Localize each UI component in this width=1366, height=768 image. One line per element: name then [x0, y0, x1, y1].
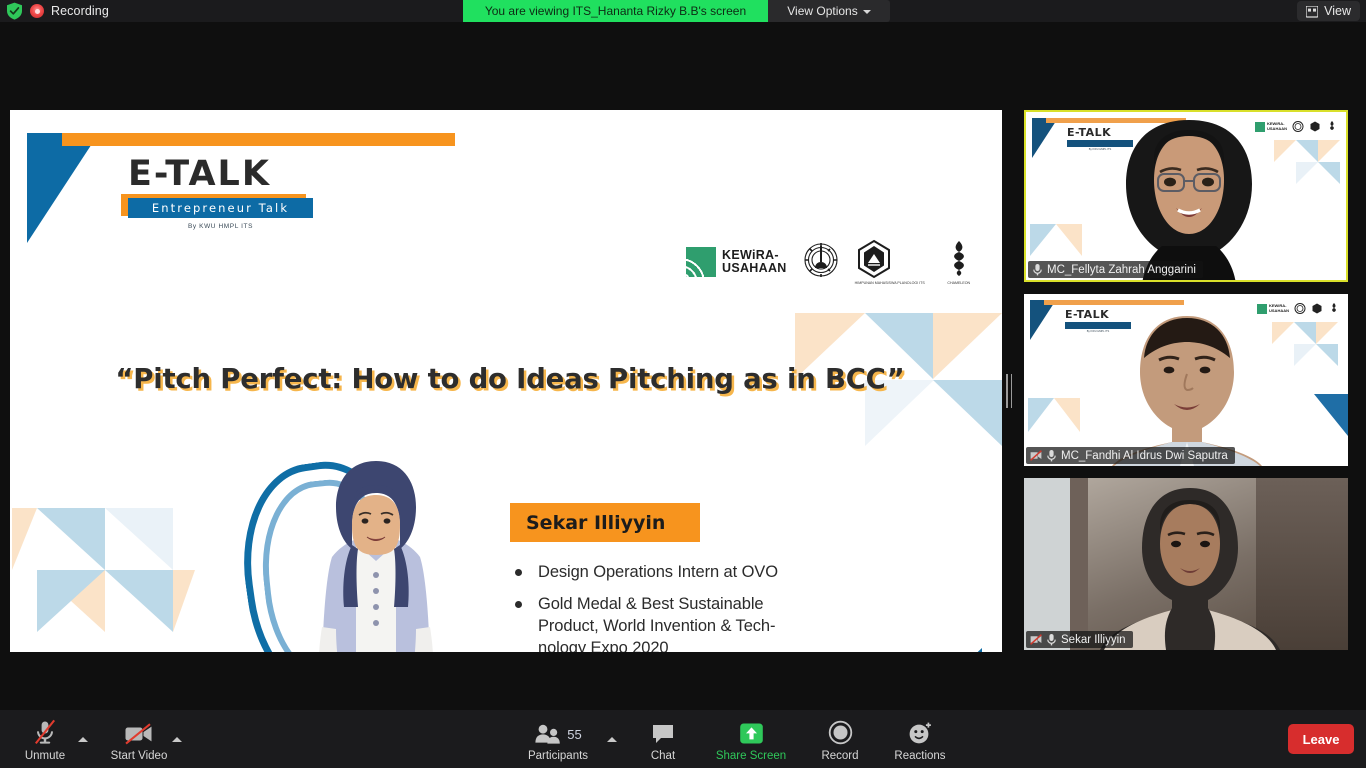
audio-options-caret[interactable]	[78, 737, 88, 742]
record-circle-icon	[828, 719, 853, 745]
video-options-caret[interactable]	[172, 737, 182, 742]
bullet-text: Design Operations Intern at OVO	[538, 562, 778, 584]
chameleon-logo-caption: CHAMELEON	[940, 281, 978, 285]
microphone-muted-icon	[1032, 263, 1043, 276]
participant-video-person	[1084, 308, 1290, 466]
chameleon-mark-icon	[940, 238, 978, 280]
chameleon-mark-icon	[1326, 120, 1338, 133]
deco-triangle	[37, 508, 105, 570]
hmpl-seal-icon	[855, 238, 893, 280]
share-screen-button[interactable]: Share Screen	[708, 719, 794, 762]
microphone-muted-icon	[1046, 449, 1057, 462]
start-video-button[interactable]: Start Video	[96, 719, 182, 762]
chevron-down-icon	[863, 10, 871, 14]
share-screen-label: Share Screen	[716, 750, 786, 762]
reactions-button[interactable]: Reactions	[877, 719, 963, 762]
its-logo	[802, 240, 840, 283]
participant-name: MC_Fellyta Zahrah Anggarini	[1047, 264, 1196, 276]
participant-name-badge: MC_Fellyta Zahrah Anggarini	[1028, 261, 1203, 278]
recording-label: Recording	[51, 4, 109, 18]
start-video-label: Start Video	[111, 750, 168, 762]
deco-triangle	[1294, 344, 1316, 366]
chameleon-logo: CHAMELEON	[940, 238, 978, 285]
video-tile-2[interactable]: Sekar Illiyyin	[1024, 478, 1348, 650]
deco-triangle	[1296, 140, 1318, 162]
speaker-photo	[292, 457, 460, 652]
etalk-title: E-TALK	[128, 157, 428, 192]
hmpl-seal-icon	[1311, 302, 1323, 315]
deco-orange-bar	[62, 133, 455, 146]
bullet-text: Gold Medal & Best Sustainable Product, W…	[538, 594, 775, 652]
participant-name-badge: Sekar Illiyyin	[1026, 631, 1133, 648]
grid-view-icon	[1306, 5, 1318, 17]
deco-triangle	[1054, 398, 1080, 432]
view-options-button[interactable]: View Options	[768, 0, 890, 22]
video-feed	[1024, 478, 1348, 650]
kewirausahaan-logo: KEWiRA-USAHAAN	[686, 247, 787, 277]
speaker-name: Sekar Illiyyin	[526, 512, 665, 534]
list-item: Gold Medal & Best Sustainable Product, W…	[510, 594, 840, 652]
viewing-screen-banner: You are viewing ITS_Hananta Rizky B.B's …	[463, 0, 768, 22]
unmute-label: Unmute	[25, 750, 65, 762]
share-screen-icon	[739, 719, 764, 745]
kewirausahaan-mark-icon	[686, 247, 716, 277]
shared-screen-area[interactable]: E-TALK Entrepreneur Talk By KWU HMPL ITS…	[10, 110, 1002, 652]
hmpl-its-logo: HIMPUNAN MAHASISWA PLANOLOGI ITS	[855, 238, 925, 285]
camera-off-icon	[1030, 450, 1042, 461]
recording-indicator-icon[interactable]	[30, 4, 44, 18]
recording-status-group: Recording	[6, 2, 109, 20]
sponsor-logo-row: KEWiRA-USAHAAN	[686, 238, 978, 285]
etalk-subtitle: Entrepreneur Talk	[128, 198, 313, 218]
view-button[interactable]: View	[1297, 1, 1360, 21]
participant-name: MC_Fandhi Al Idrus Dwi Saputra	[1061, 450, 1228, 462]
participants-count: 55	[567, 727, 581, 742]
deco-triangle	[105, 508, 173, 570]
top-status-bar: Recording You are viewing ITS_Hananta Ri…	[0, 0, 1366, 22]
chat-label: Chat	[651, 750, 675, 762]
camera-off-icon	[124, 719, 154, 745]
record-label: Record	[821, 750, 858, 762]
deco-triangle	[1294, 322, 1316, 344]
deco-orange-bar	[1044, 300, 1184, 305]
deco-triangle	[1318, 140, 1340, 162]
video-feed: E-TALK By KWU HMPL ITS KEWiRA-USAHAAN	[1024, 294, 1348, 466]
participants-icon: 55	[534, 719, 581, 745]
participant-video-person	[1084, 120, 1294, 280]
deco-corner-triangle	[1030, 300, 1056, 340]
reactions-label: Reactions	[894, 750, 945, 762]
leave-button[interactable]: Leave	[1288, 724, 1354, 754]
deco-corner-triangle	[27, 133, 99, 243]
view-button-label: View	[1324, 4, 1351, 18]
deco-triangle	[1314, 394, 1348, 436]
list-item: Design Operations Intern at OVO	[510, 562, 840, 584]
view-options-label: View Options	[787, 4, 857, 18]
etalk-byline: By KWU HMPL ITS	[128, 223, 313, 230]
video-tile-1[interactable]: E-TALK By KWU HMPL ITS KEWiRA-USAHAAN	[1024, 294, 1348, 466]
deco-triangle	[1318, 162, 1340, 184]
record-button[interactable]: Record	[797, 719, 883, 762]
bullet-dot-icon	[515, 601, 522, 608]
chat-bubble-icon	[651, 719, 675, 745]
hmpl-logo-caption: HIMPUNAN MAHASISWA PLANOLOGI ITS	[855, 281, 925, 285]
chameleon-mark-icon	[1328, 302, 1340, 315]
leave-label: Leave	[1303, 732, 1340, 747]
deco-triangle	[173, 570, 195, 632]
unmute-button[interactable]: Unmute	[2, 719, 88, 762]
camera-off-icon	[1030, 634, 1042, 645]
bullet-dot-icon	[515, 569, 522, 576]
speaker-name-chip: Sekar Illiyyin	[510, 503, 700, 542]
microphone-muted-icon	[32, 719, 58, 745]
participant-name-badge: MC_Fandhi Al Idrus Dwi Saputra	[1026, 447, 1235, 464]
its-seal-icon	[1294, 302, 1306, 315]
deco-corner-triangle	[1032, 118, 1058, 158]
hmpl-seal-icon	[1309, 120, 1321, 133]
kewirausahaan-wordmark: KEWiRA-USAHAAN	[722, 249, 787, 274]
its-seal-icon	[802, 240, 840, 282]
meeting-toolbar: Unmute Start Video 55 Parti	[0, 710, 1366, 768]
deco-bottom-triangle	[864, 648, 982, 652]
chat-button[interactable]: Chat	[620, 719, 706, 762]
reactions-smiley-icon	[908, 719, 933, 745]
deco-triangle	[37, 570, 105, 632]
video-feed: E-TALK By KWU HMPL ITS KEWiRA-USAHAAN	[1026, 112, 1346, 280]
participants-label: Participants	[528, 750, 588, 762]
participants-options-caret[interactable]	[607, 737, 617, 742]
deco-triangle	[1056, 224, 1082, 256]
microphone-muted-icon	[1046, 633, 1057, 646]
deco-triangle	[1296, 162, 1318, 184]
security-shield-icon[interactable]	[6, 2, 23, 20]
participant-name: Sekar Illiyyin	[1061, 634, 1126, 646]
panel-drag-handle[interactable]	[1006, 370, 1012, 412]
video-tile-0[interactable]: E-TALK By KWU HMPL ITS KEWiRA-USAHAAN	[1024, 110, 1348, 282]
slide-title: “Pitch Perfect: How to do Ideas Pitching…	[110, 363, 910, 395]
deco-triangle	[1030, 224, 1056, 256]
presentation-slide: E-TALK Entrepreneur Talk By KWU HMPL ITS…	[10, 110, 1002, 652]
deco-triangle	[1316, 322, 1338, 344]
deco-triangle	[12, 508, 37, 570]
viewing-screen-text: You are viewing ITS_Hananta Rizky B.B's …	[485, 4, 746, 18]
deco-triangle	[933, 380, 1002, 446]
deco-triangle	[933, 313, 1002, 379]
participants-button[interactable]: 55 Participants	[515, 719, 601, 762]
deco-triangle	[1028, 398, 1054, 432]
deco-triangle	[1316, 344, 1338, 366]
etalk-logo: E-TALK Entrepreneur Talk By KWU HMPL ITS	[128, 157, 428, 230]
participant-video-person	[1092, 482, 1288, 650]
deco-triangle	[105, 570, 173, 632]
speaker-bullets: Design Operations Intern at OVO Gold Med…	[510, 562, 840, 652]
